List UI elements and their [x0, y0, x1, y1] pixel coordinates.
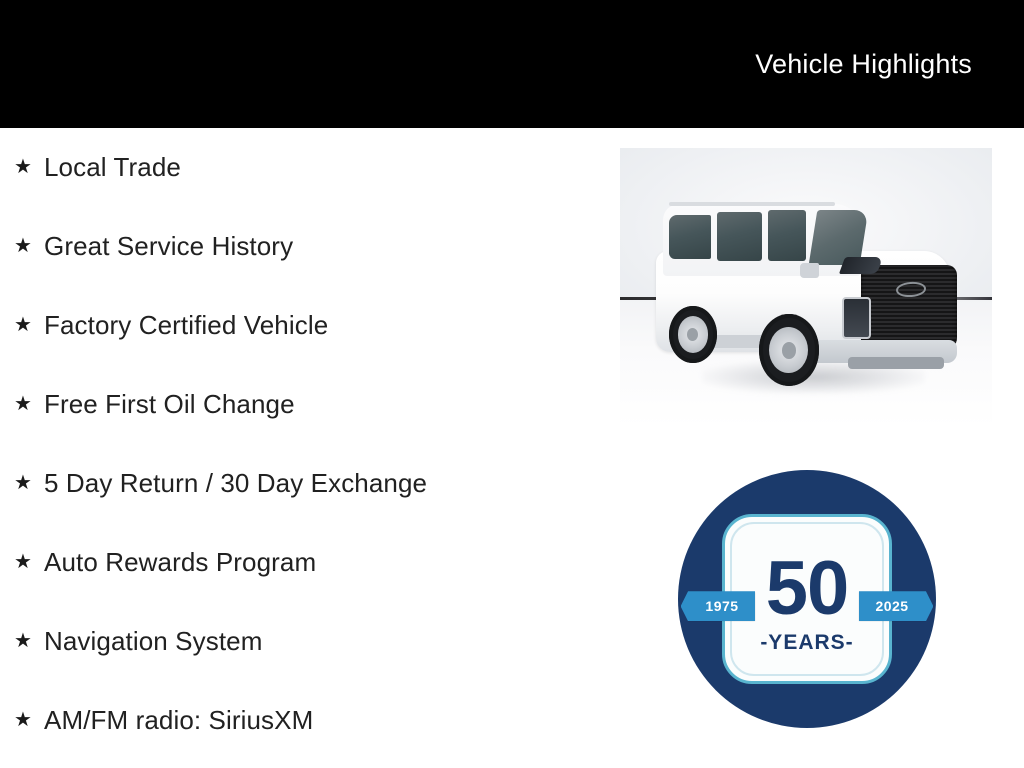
list-item: ★ 5 Day Return / 30 Day Exchange [0, 444, 600, 523]
badge-end-year-ribbon: 2025 [859, 591, 934, 621]
highlight-label: Navigation System [44, 626, 262, 657]
suv-roof-rail [669, 202, 835, 206]
star-icon: ★ [14, 394, 44, 414]
anniversary-badge: 50 -YEARS- 1975 2025 [678, 470, 936, 728]
badge-start-year-ribbon: 1975 [681, 591, 756, 621]
suv-rear-wheel [669, 306, 717, 363]
list-item: ★ Auto Rewards Program [0, 523, 600, 602]
highlight-label: Free First Oil Change [44, 389, 295, 420]
list-item: ★ Free First Oil Change [0, 365, 600, 444]
suv-front-door-window [768, 210, 806, 261]
suv-headlight [839, 257, 884, 274]
list-item: ★ Factory Certified Vehicle [0, 286, 600, 365]
suv-grille [861, 265, 957, 350]
star-icon: ★ [14, 631, 44, 651]
list-item: ★ Great Service History [0, 207, 600, 286]
suv-rear-door-window [717, 212, 762, 261]
suv-rear-rim [678, 316, 709, 353]
vehicle-highlights-list: ★ Local Trade ★ Great Service History ★ … [0, 128, 600, 760]
header-bar: Vehicle Highlights [0, 0, 1024, 128]
highlight-label: Great Service History [44, 231, 293, 262]
star-icon: ★ [14, 315, 44, 335]
suv-rear-window [669, 215, 711, 260]
highlight-label: Auto Rewards Program [44, 547, 316, 578]
list-item: ★ AM/FM radio: SiriusXM [0, 681, 600, 760]
page-title: Vehicle Highlights [755, 51, 972, 78]
suv-skid-plate [848, 357, 944, 370]
highlight-label: Local Trade [44, 152, 181, 183]
highlight-label: Factory Certified Vehicle [44, 310, 328, 341]
main-content: ★ Local Trade ★ Great Service History ★ … [0, 128, 1024, 768]
highlight-label: 5 Day Return / 30 Day Exchange [44, 468, 427, 499]
star-icon: ★ [14, 473, 44, 493]
suv-illustration [650, 187, 970, 399]
star-icon: ★ [14, 710, 44, 730]
highlight-label: AM/FM radio: SiriusXM [44, 705, 313, 736]
suv-lower-lamp [842, 297, 872, 339]
suv-side-mirror [800, 263, 819, 278]
star-icon: ★ [14, 157, 44, 177]
badge-years-label: -YEARS- [725, 632, 889, 653]
suv-front-wheel [759, 314, 820, 386]
list-item: ★ Local Trade [0, 128, 600, 207]
vehicle-photo [620, 148, 992, 427]
suv-front-rim [769, 327, 808, 373]
star-icon: ★ [14, 552, 44, 572]
star-icon: ★ [14, 236, 44, 256]
list-item: ★ Navigation System [0, 602, 600, 681]
